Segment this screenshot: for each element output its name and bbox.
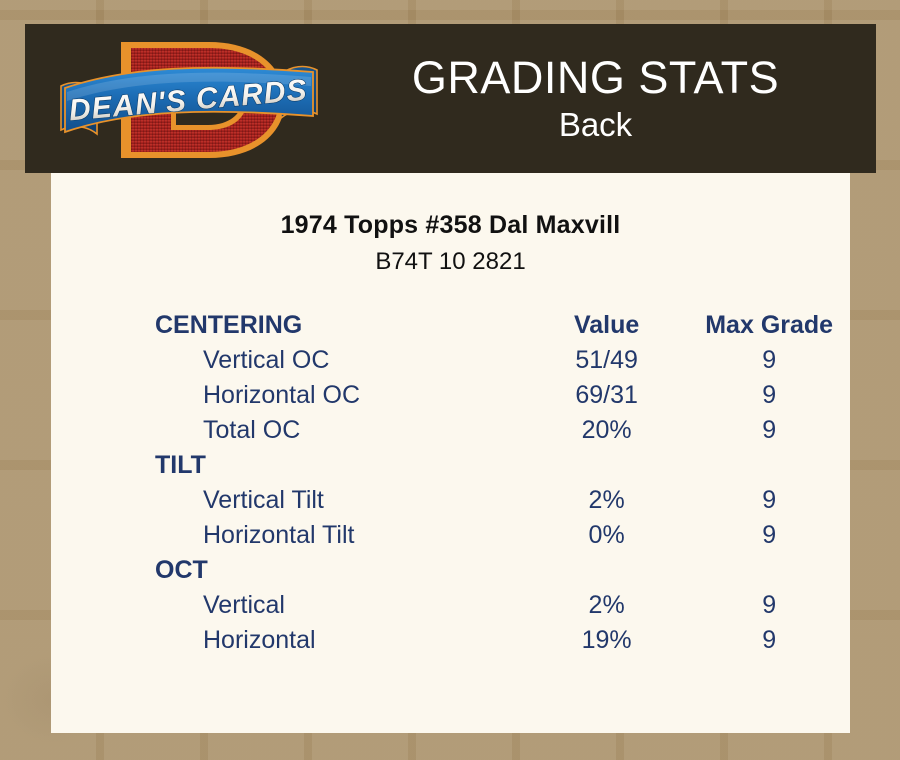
- logo-graphic: DEAN'S CARDS: [59, 30, 319, 170]
- header-title-group: GRADING STATS Back: [315, 24, 876, 173]
- stats-section-header-row: CENTERINGValueMax Grade: [51, 308, 850, 343]
- stats-section-name: TILT: [51, 448, 525, 483]
- stats-row-max-grade: 9: [688, 378, 850, 413]
- stats-section-name: CENTERING: [51, 308, 525, 343]
- card-serial-number: B74T 10 2821: [51, 248, 850, 276]
- stats-row-label: Horizontal: [51, 623, 525, 658]
- stats-row-max-grade: 9: [688, 483, 850, 518]
- card-title: 1974 Topps #358 Dal Maxvill: [51, 211, 850, 240]
- stats-row-max-grade: 9: [688, 413, 850, 448]
- stats-row-max-grade: 9: [688, 588, 850, 623]
- stats-row: Vertical Tilt2%9: [51, 483, 850, 518]
- stats-row-label: Total OC: [51, 413, 525, 448]
- stats-row-value: 19%: [525, 623, 688, 658]
- stats-section-header-row: TILT: [51, 448, 850, 483]
- grading-stats-table: CENTERINGValueMax GradeVertical OC51/499…: [51, 308, 850, 658]
- stats-row-value: 20%: [525, 413, 688, 448]
- stats-section-name: OCT: [51, 553, 525, 588]
- stats-row-max-grade: 9: [688, 518, 850, 553]
- deans-cards-logo[interactable]: DEAN'S CARDS: [59, 30, 319, 170]
- stats-row-label: Vertical OC: [51, 343, 525, 378]
- stats-row-value: 2%: [525, 588, 688, 623]
- value-column-header: [525, 553, 688, 588]
- stats-row: Vertical OC51/499: [51, 343, 850, 378]
- stats-row-value: 51/49: [525, 343, 688, 378]
- max-grade-column-header: [688, 553, 850, 588]
- stats-row-value: 69/31: [525, 378, 688, 413]
- stats-row-label: Vertical Tilt: [51, 483, 525, 518]
- value-column-header: Value: [525, 308, 688, 343]
- stats-row-max-grade: 9: [688, 623, 850, 658]
- card-side-subtitle: Back: [559, 105, 632, 145]
- max-grade-column-header: Max Grade: [688, 308, 850, 343]
- page-title: GRADING STATS: [412, 53, 779, 103]
- stats-row-max-grade: 9: [688, 343, 850, 378]
- stats-row-value: 0%: [525, 518, 688, 553]
- header-bar: DEAN'S CARDS GRADING STATS Back: [25, 24, 876, 173]
- stats-row: Horizontal OC69/319: [51, 378, 850, 413]
- grading-stats-body: CENTERINGValueMax GradeVertical OC51/499…: [51, 308, 850, 658]
- stats-section-header-row: OCT: [51, 553, 850, 588]
- value-column-header: [525, 448, 688, 483]
- max-grade-column-header: [688, 448, 850, 483]
- stats-row: Horizontal Tilt0%9: [51, 518, 850, 553]
- stats-row-value: 2%: [525, 483, 688, 518]
- stats-row: Vertical2%9: [51, 588, 850, 623]
- stats-row-label: Horizontal Tilt: [51, 518, 525, 553]
- stats-row-label: Vertical: [51, 588, 525, 623]
- stats-row-label: Horizontal OC: [51, 378, 525, 413]
- stats-row: Horizontal19%9: [51, 623, 850, 658]
- content-panel: 1974 Topps #358 Dal Maxvill B74T 10 2821…: [51, 173, 850, 733]
- stats-row: Total OC20%9: [51, 413, 850, 448]
